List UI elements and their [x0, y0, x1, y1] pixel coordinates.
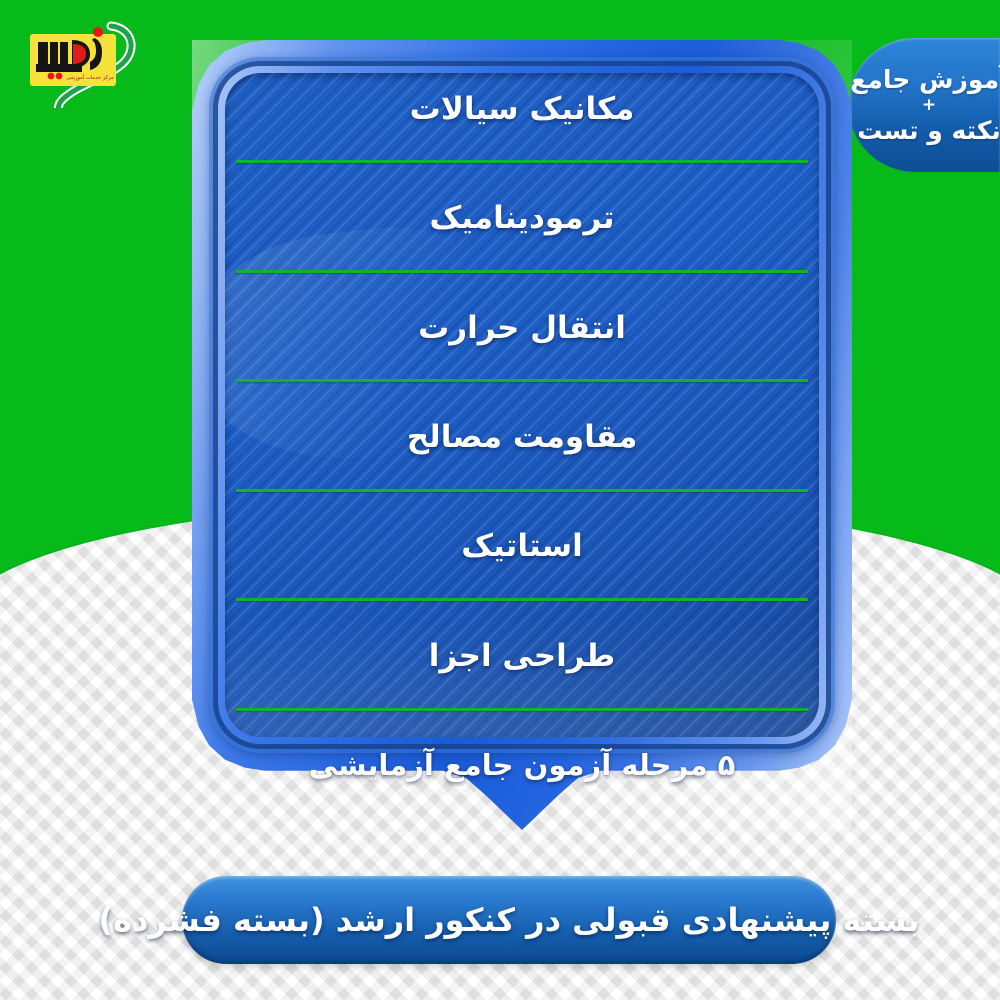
list-item[interactable]: انتقال حرارت [236, 273, 808, 382]
svg-text:مرکز خدمات آموزشی: مرکز خدمات آموزشی [66, 74, 114, 81]
list-item[interactable]: طراحی اجزا [236, 601, 808, 710]
course-label: طراحی اجزا [429, 638, 615, 674]
poster-canvas: مرکز خدمات آموزشی آموزش جامع + نکته و تس… [0, 0, 1000, 1000]
course-label: انتقال حرارت [418, 310, 626, 346]
list-item[interactable]: ۵ مرحله آزمون جامع آزمایشی [236, 711, 808, 820]
list-item[interactable]: مکانیک سیالات [236, 54, 808, 163]
course-plaque: مکانیک سیالات ترمودینامیک انتقال حرارت م… [192, 40, 852, 830]
bottom-banner[interactable]: بسته پیشنهادی قبولی در کنکور ارشد (بسته … [182, 876, 836, 964]
course-label: استاتیک [461, 528, 582, 564]
course-list: مکانیک سیالات ترمودینامیک انتقال حرارت م… [192, 40, 852, 830]
course-label: مکانیک سیالات [410, 91, 635, 127]
list-item[interactable]: ترمودینامیک [236, 163, 808, 272]
bottom-banner-text: بسته پیشنهادی قبولی در کنکور ارشد (بسته … [98, 901, 919, 939]
list-item[interactable]: مقاومت مصالح [236, 382, 808, 491]
promo-badge-line-1: آموزش جامع [850, 66, 1000, 94]
promo-badge-plus-icon: + [922, 97, 936, 114]
promo-badge-line-2: نکته و تست [857, 117, 1000, 145]
course-label: ترمودینامیک [430, 200, 615, 236]
promo-badge: آموزش جامع + نکته و تست [848, 38, 1000, 172]
nasir-brand-logo[interactable]: مرکز خدمات آموزشی [14, 12, 144, 108]
course-label: ۵ مرحله آزمون جامع آزمایشی [309, 748, 736, 782]
list-item[interactable]: استاتیک [236, 492, 808, 601]
course-label: مقاومت مصالح [407, 419, 638, 455]
